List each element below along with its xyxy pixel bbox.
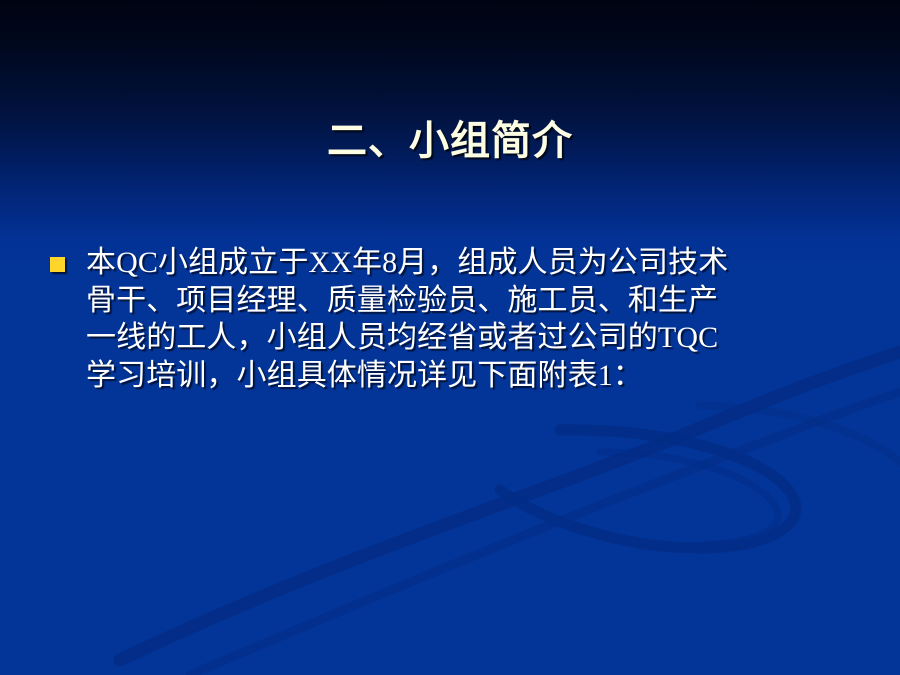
slide-body-bullet-item: 本QC小组成立于XX年8月，组成人员为公司技术 骨干、项目经理、质量检验员、施工… — [50, 244, 868, 394]
square-bullet-icon — [50, 257, 65, 272]
slide-body-text: 本QC小组成立于XX年8月，组成人员为公司技术 骨干、项目经理、质量检验员、施工… — [86, 244, 868, 394]
presentation-slide: 二、小组简介 本QC小组成立于XX年8月，组成人员为公司技术 骨干、项目经理、质… — [0, 0, 900, 675]
body-line-3: 一线的工人，小组人员均经省或者过公司的TQC — [86, 319, 868, 357]
body-line-2: 骨干、项目经理、质量检验员、施工员、和生产 — [86, 282, 868, 320]
slide-title: 二、小组简介 — [0, 114, 900, 168]
body-line-1: 本QC小组成立于XX年8月，组成人员为公司技术 — [86, 244, 868, 282]
body-line-4: 学习培训，小组具体情况详见下面附表1： — [86, 357, 868, 395]
